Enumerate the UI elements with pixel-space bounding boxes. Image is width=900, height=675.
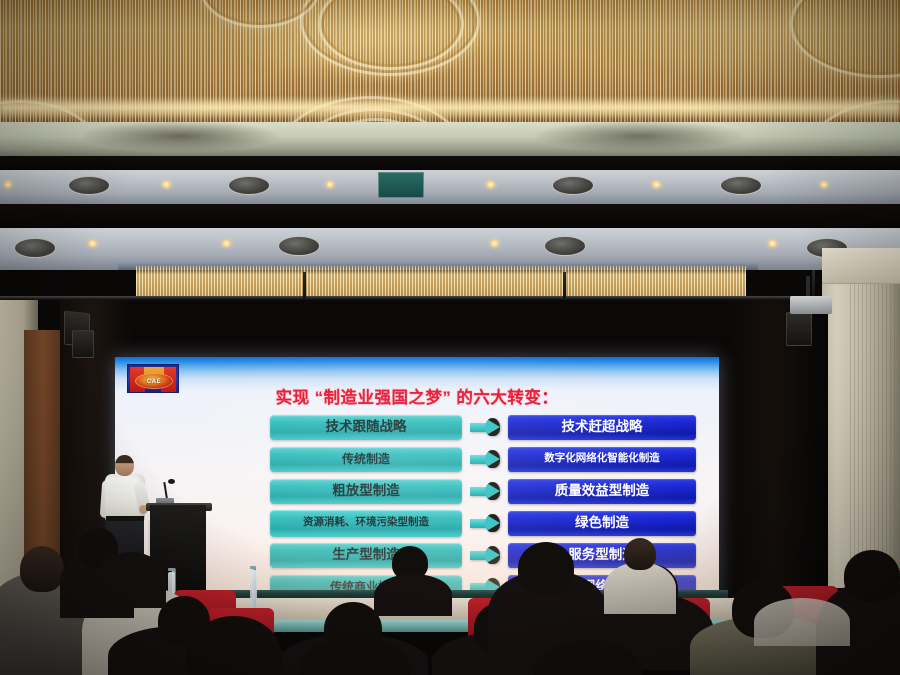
presenter-belt (106, 516, 144, 521)
ceiling-vent-panel (378, 172, 424, 198)
audience-member (754, 598, 850, 646)
spotlight-icon (88, 240, 97, 247)
from-state-box: 粗放型制造 (270, 479, 462, 504)
from-state-box: 资源消耗、环境污染型制造 (270, 510, 462, 537)
ceiling-projector (790, 296, 832, 314)
spotlight-icon (820, 181, 828, 188)
spotlight-icon (162, 181, 171, 188)
slide-row: 粗放型制造 质量效益型制造 (115, 476, 719, 506)
arrow-right-icon (470, 450, 500, 469)
spotlight-icon (4, 181, 12, 188)
transform-arrow-cell (462, 514, 508, 533)
audience-member (374, 574, 452, 616)
pa-speaker-right (786, 312, 812, 346)
arrow-right-icon (470, 482, 500, 501)
from-state-box: 传统制造 (270, 447, 462, 472)
downlight-icon (228, 176, 270, 195)
pillar-flutes (850, 284, 896, 584)
water-bottle (250, 570, 257, 610)
conference-hall-photo: CAE 实现 “制造业强国之梦” 的六大转变： 技术跟随战略 技术赶超战略 传统… (0, 0, 900, 675)
downlight-icon (552, 176, 594, 195)
audience-area (0, 540, 900, 675)
transform-arrow-cell (462, 450, 508, 469)
truss-hanger (563, 272, 566, 298)
ceiling-dark-recess (0, 156, 900, 170)
marble-pillar-right (822, 248, 900, 588)
to-state-box: 数字化网络化智能化制造 (508, 447, 696, 472)
spotlight-icon (326, 181, 334, 188)
spotlight-icon (652, 181, 661, 188)
slide-row: 传统制造 数字化网络化智能化制造 (115, 444, 719, 474)
presenter-head (115, 455, 134, 476)
spotlight-icon (768, 240, 777, 247)
slide-row: 技术跟随战略 技术赶超战略 (115, 412, 719, 442)
to-state-box: 技术赶超战略 (508, 415, 696, 440)
ceiling-black-gap (0, 204, 900, 230)
spotlight-icon (490, 240, 499, 247)
slide-title: 实现 “制造业强国之梦” 的六大转变： (115, 384, 719, 408)
downlight-icon (68, 176, 110, 195)
downlight-icon (544, 236, 586, 256)
truss-hanger (303, 272, 306, 298)
from-state-box: 技术跟随战略 (270, 415, 462, 440)
projector-mount (806, 276, 810, 298)
pa-speaker-left-2 (72, 330, 94, 358)
to-state-box: 质量效益型制造 (508, 479, 696, 504)
to-state-box: 绿色制造 (508, 511, 696, 536)
spotlight-icon (486, 181, 495, 188)
microphone-icon (168, 479, 175, 484)
ceiling-chandelier-upper (0, 0, 900, 126)
arrow-right-icon (470, 418, 500, 437)
cove-light-glow (0, 96, 900, 118)
downlight-icon (14, 238, 56, 258)
arrow-right-icon (470, 514, 500, 533)
pillar-capital (822, 248, 900, 284)
downlight-icon (278, 236, 320, 256)
audience-head (20, 546, 64, 592)
audience-head (518, 542, 574, 594)
transform-arrow-cell (462, 482, 508, 501)
transform-arrow-cell (462, 418, 508, 437)
cornice-shadow (0, 122, 900, 158)
spotlight-icon (222, 240, 231, 247)
truss-hanger (812, 270, 815, 298)
bottle-cap (250, 566, 256, 569)
audience-member (96, 552, 166, 608)
audience-head (844, 550, 900, 602)
audience-head (624, 538, 656, 570)
bottle-cap (168, 568, 174, 571)
downlight-icon (720, 176, 762, 195)
ceiling-downlight-strip (0, 170, 900, 206)
